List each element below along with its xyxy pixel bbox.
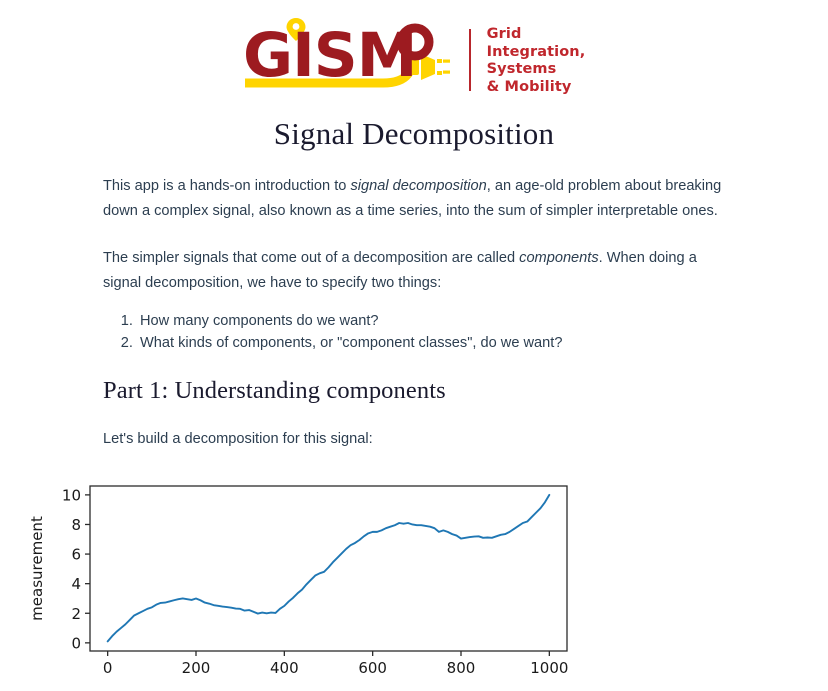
y-tick-label: 4 bbox=[71, 575, 81, 593]
list-item: What kinds of components, or "component … bbox=[137, 332, 725, 354]
list-item: How many components do we want? bbox=[137, 310, 725, 332]
x-tick-label: 1000 bbox=[530, 659, 568, 677]
y-tick-label: 10 bbox=[62, 486, 81, 504]
components-emphasis: components bbox=[519, 250, 599, 266]
y-tick-label: 0 bbox=[71, 634, 81, 652]
intro-emphasis: signal decomposition bbox=[350, 178, 486, 194]
components-paragraph: The simpler signals that come out of a d… bbox=[103, 246, 725, 296]
gismo-logo: GISM Grid Integration, Systems & Mobilit… bbox=[243, 14, 586, 102]
lead-text: Let's build a decomposition for this sig… bbox=[103, 428, 725, 450]
tagline-line-4: & Mobility bbox=[487, 79, 586, 97]
series-line-signal bbox=[108, 495, 550, 642]
intro-text-a: This app is a hands-on introduction to bbox=[103, 178, 350, 194]
y-tick-label: 2 bbox=[71, 605, 81, 623]
y-axis-title: measurement bbox=[28, 516, 46, 621]
tagline-line-2: Integration, bbox=[487, 44, 586, 62]
logo-band: GISM Grid Integration, Systems & Mobilit… bbox=[0, 0, 828, 102]
x-tick-label: 600 bbox=[358, 659, 387, 677]
components-text-a: The simpler signals that come out of a d… bbox=[103, 250, 519, 266]
page-title: Signal Decomposition bbox=[103, 116, 725, 152]
logo-tagline: Grid Integration, Systems & Mobility bbox=[487, 20, 586, 96]
section-heading: Part 1: Understanding components bbox=[103, 376, 725, 406]
x-tick-label: 800 bbox=[447, 659, 476, 677]
signal-chart: 024681002004006008001000measurement bbox=[22, 476, 828, 691]
signal-plot: 024681002004006008001000measurement bbox=[22, 476, 582, 691]
y-tick-label: 8 bbox=[71, 516, 81, 534]
x-tick-label: 200 bbox=[182, 659, 211, 677]
y-tick-label: 6 bbox=[71, 546, 81, 564]
tagline-line-3: Systems bbox=[487, 61, 586, 79]
gismo-wordmark: GISM bbox=[243, 14, 455, 102]
tagline-line-1: Grid bbox=[487, 26, 586, 44]
page-content: Signal Decomposition This app is a hands… bbox=[0, 116, 828, 450]
specification-list: How many components do we want? What kin… bbox=[103, 310, 725, 354]
intro-paragraph: This app is a hands-on introduction to s… bbox=[103, 174, 725, 224]
svg-text:GISM: GISM bbox=[243, 20, 416, 91]
x-tick-label: 0 bbox=[103, 659, 113, 677]
logo-divider bbox=[469, 29, 471, 91]
x-tick-label: 400 bbox=[270, 659, 299, 677]
